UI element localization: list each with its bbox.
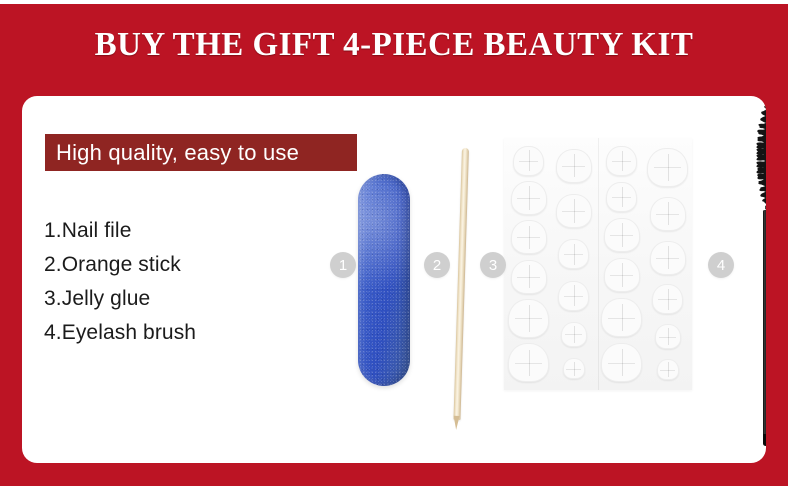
glue-tab [650, 241, 686, 275]
glue-tab [511, 181, 547, 215]
glue-tab [511, 260, 547, 294]
glue-tab [601, 298, 642, 337]
eyelash-brush-head [756, 104, 766, 216]
glue-tab [657, 359, 679, 380]
glue-tab [508, 343, 549, 382]
glue-tab [508, 299, 549, 338]
eyelash-brush-end-cap [763, 434, 766, 446]
product-image-nail-file [358, 174, 410, 386]
product-image-eyelash-brush [751, 104, 766, 452]
orange-stick-tip [453, 416, 459, 430]
list-item: 1.Nail file [44, 214, 334, 248]
subtitle-text: High quality, easy to use [45, 140, 299, 166]
product-card: High quality, easy to use 1.Nail file 2.… [22, 96, 766, 463]
glue-tab-column [645, 143, 690, 385]
glue-tab [511, 220, 547, 254]
list-item: 3.Jelly glue [44, 282, 334, 316]
glue-tab [558, 281, 589, 311]
list-item: 2.Orange stick [44, 248, 334, 282]
glue-tab [556, 194, 592, 228]
glue-tab [650, 197, 686, 231]
product-badge-4: 4 [708, 252, 734, 278]
glue-tab [604, 218, 640, 252]
product-badge-2: 2 [424, 252, 450, 278]
glue-tab [513, 146, 544, 176]
feature-list: 1.Nail file 2.Orange stick 3.Jelly glue … [44, 214, 334, 350]
eyelash-brush-handle [763, 210, 766, 438]
glue-tab [606, 182, 637, 212]
page-title: BUY THE GIFT 4-PIECE BEAUTY KIT [12, 26, 776, 64]
glue-tab [558, 239, 589, 269]
glue-tab [652, 284, 683, 314]
glue-tab [561, 322, 587, 347]
product-image-jelly-glue [504, 138, 692, 390]
product-infographic: BUY THE GIFT 4-PIECE BEAUTY KIT High qua… [0, 0, 788, 495]
glue-tab [606, 146, 637, 176]
glue-tab [556, 149, 592, 183]
product-badge-3: 3 [480, 252, 506, 278]
glue-tab [601, 343, 642, 382]
list-item: 4.Eyelash brush [44, 316, 334, 350]
subtitle-banner: High quality, easy to use [45, 134, 357, 171]
product-image-orange-stick [451, 148, 471, 430]
glue-tab [655, 324, 681, 349]
product-badge-1: 1 [330, 252, 356, 278]
glue-tab-column [551, 143, 596, 385]
glue-tab [563, 358, 585, 379]
glue-tab-column [599, 143, 644, 385]
glue-tab [647, 148, 688, 187]
glue-tab-column [506, 143, 551, 385]
glue-tab [604, 258, 640, 292]
orange-stick-body [453, 148, 469, 420]
